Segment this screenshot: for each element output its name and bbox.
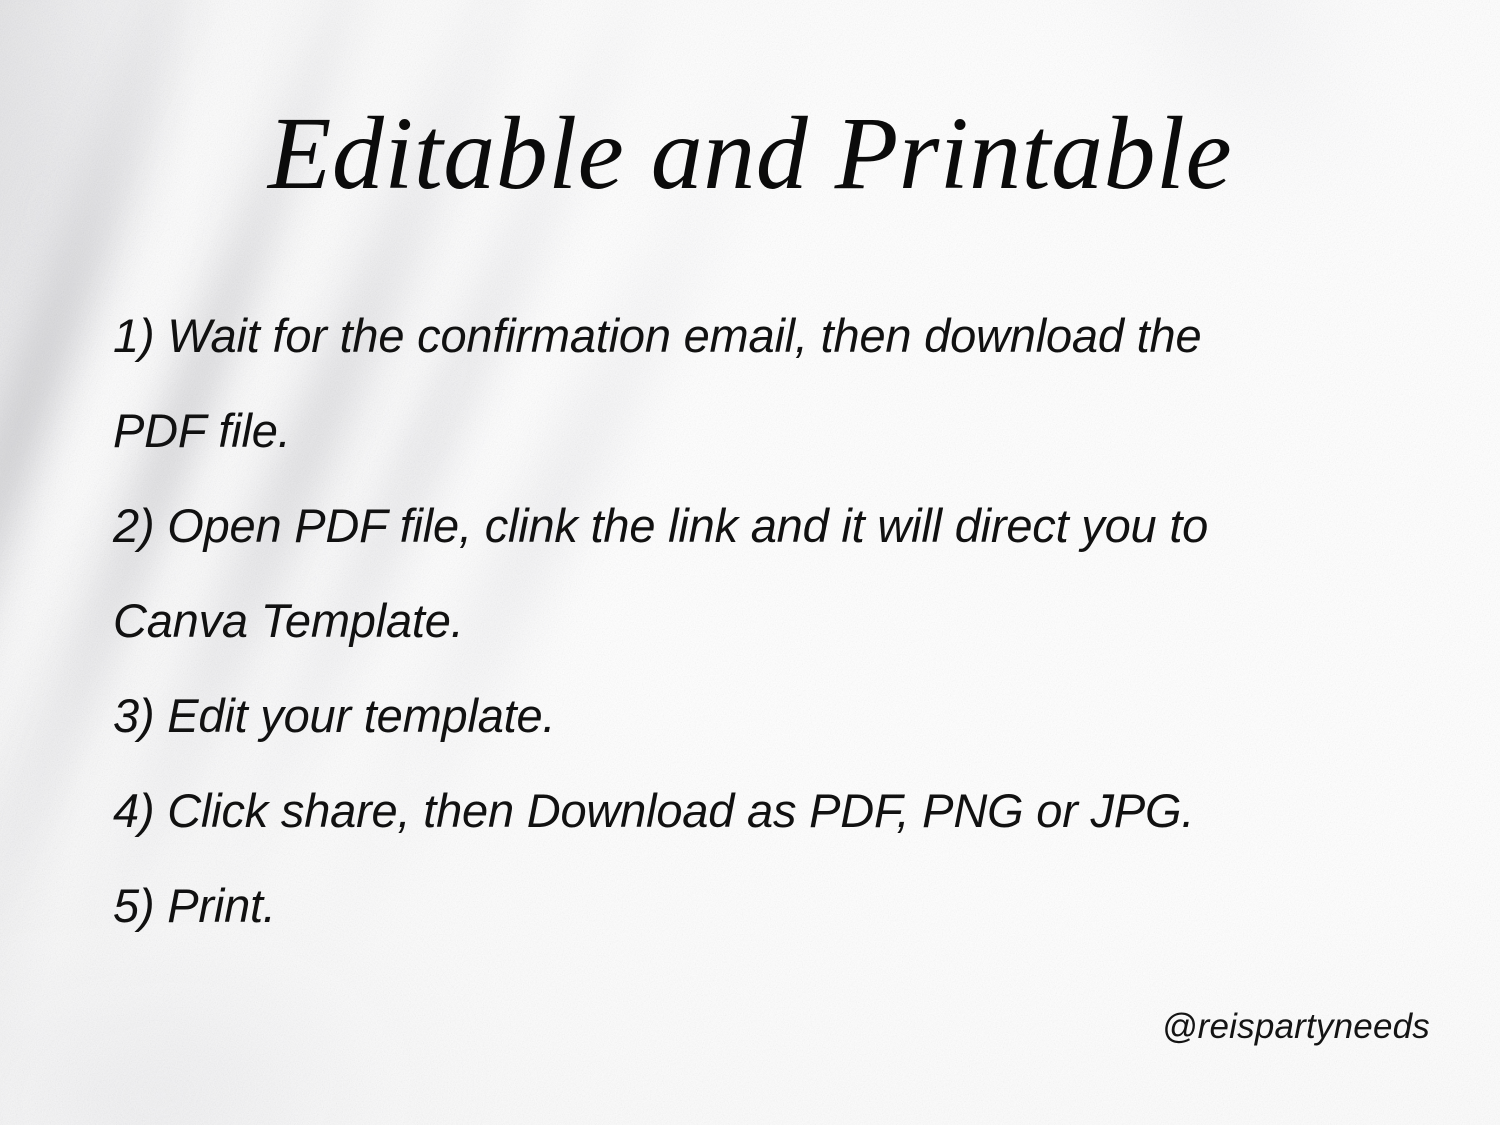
- instruction-line: 4) Click share, then Download as PDF, PN…: [113, 763, 1443, 858]
- instruction-line: 1) Wait for the confirmation email, then…: [113, 288, 1443, 383]
- page-title: Editable and Printable: [0, 96, 1500, 212]
- instructions-list: 1) Wait for the confirmation email, then…: [113, 288, 1443, 953]
- slide-content: Editable and Printable 1) Wait for the c…: [0, 0, 1500, 1125]
- watermark-handle: @reispartyneeds: [0, 1007, 1430, 1047]
- instruction-line: Canva Template.: [113, 573, 1443, 668]
- instruction-line: 5) Print.: [113, 858, 1443, 953]
- instruction-line: 2) Open PDF file, clink the link and it …: [113, 478, 1443, 573]
- instruction-line: PDF file.: [113, 383, 1443, 478]
- slide-canvas: Editable and Printable 1) Wait for the c…: [0, 0, 1500, 1125]
- instruction-line: 3) Edit your template.: [113, 668, 1443, 763]
